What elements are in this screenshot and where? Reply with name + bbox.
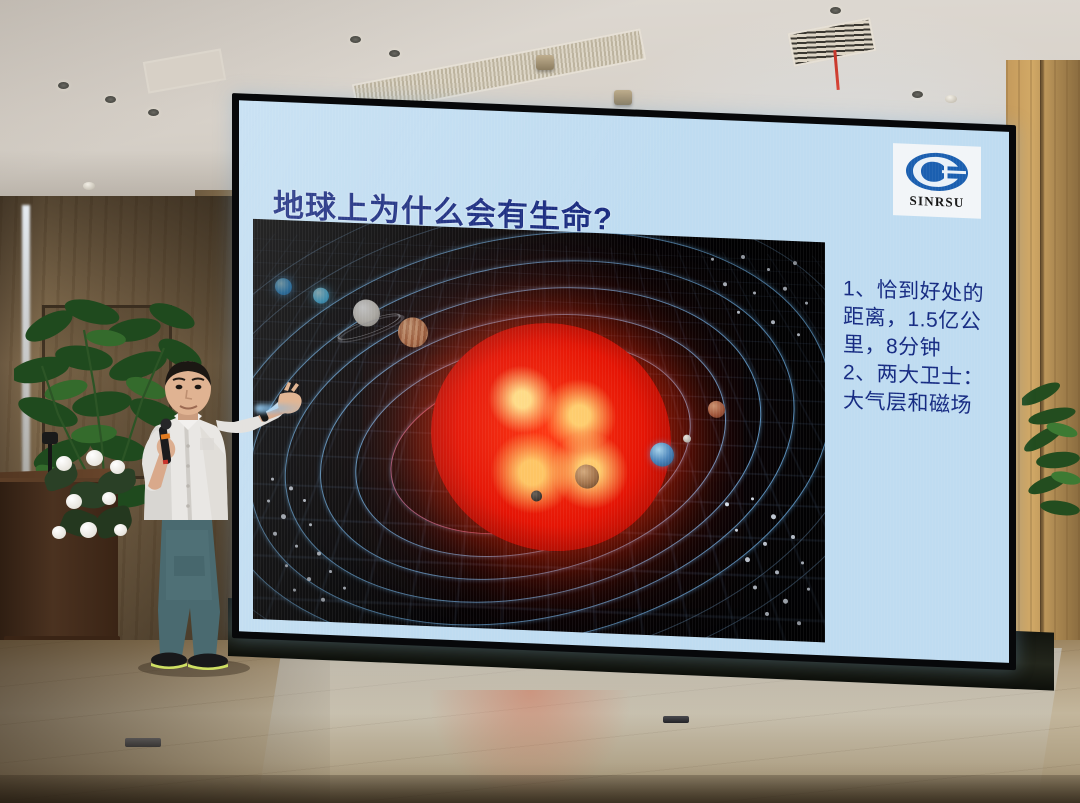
- photo-scene: SINRSU 地球上为什么会有生命?: [0, 0, 1080, 803]
- solar-system-illustration: [253, 219, 825, 642]
- floor-foreground-shadow: [0, 775, 1080, 803]
- logo-text: SINRSU: [910, 193, 965, 211]
- spotlight-icon: [614, 90, 632, 105]
- floor-object: [663, 716, 689, 723]
- downlight-icon: [389, 50, 400, 57]
- downlight-icon: [105, 96, 116, 103]
- downlight-icon: [350, 36, 361, 43]
- smoke-detector-icon: [945, 95, 957, 103]
- spotlight-icon: [536, 55, 554, 70]
- smoke-detector-icon: [83, 182, 95, 190]
- logo-mark-icon: [904, 151, 970, 194]
- laser-pointer-glow: [255, 404, 307, 413]
- led-screen[interactable]: SINRSU 地球上为什么会有生命?: [232, 93, 1016, 670]
- downlight-icon: [58, 82, 69, 89]
- slide-bullets: 1、恰到好处的 距离，1.5亿公 里，8分钟 2、两大卫士： 大气层和磁场: [843, 275, 1009, 422]
- sinrsu-logo: SINRSU: [893, 143, 981, 219]
- plant-leaves-icon: [1022, 368, 1080, 548]
- floor-object: [125, 738, 161, 747]
- potted-plant-right: [1022, 368, 1080, 548]
- downlight-icon: [830, 7, 841, 14]
- presentation-slide: SINRSU 地球上为什么会有生命?: [239, 100, 1009, 663]
- image-vignette: [253, 219, 825, 642]
- microphone-icon: [42, 432, 58, 444]
- downlight-icon: [912, 91, 923, 98]
- downlight-icon: [148, 109, 159, 116]
